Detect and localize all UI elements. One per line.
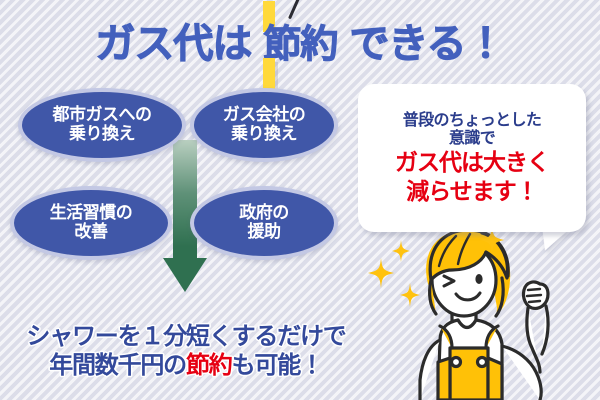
page-title: ガス代は 節約 できる！ [0,14,600,74]
balloon-line-3: ガス代は大きく [395,151,549,177]
highlight-tag: 節約 [263,6,337,82]
balloon-line-1: 普段のちょっとした [403,111,542,130]
option-bubble-gas-company-switch[interactable]: ガス会社の 乗り換え [190,88,338,162]
headline-prefix: ガス代は [95,24,251,64]
infographic-canvas: ガス代は 節約 できる！ 都市ガスへの 乗り換え ガス会社の 乗り換え 生活習慣… [0,0,600,400]
option-label: ガス会社の 乗り換え [219,106,310,144]
headline-suffix: できる！ [349,24,504,64]
caption-line-2: 年間数千円の節約も可能！ [0,351,372,380]
caption-line-1: シャワーを１分短くするだけで [0,322,372,351]
sparkle-icon [400,283,420,307]
highlight-banner: 節約 [263,1,337,89]
option-label: 生活習慣の 改善 [46,204,137,242]
option-label: 政府の 援助 [235,204,293,242]
speech-balloon: 普段のちょっとした 意識で ガス代は大きく 減らせます！ [358,84,586,232]
option-bubble-lifestyle-improvement[interactable]: 生活習慣の 改善 [10,186,172,260]
pin-icon [288,0,303,19]
sparkle-icon [368,258,394,288]
balloon-line-2: 意識で [449,129,495,148]
option-bubble-city-gas-switch[interactable]: 都市ガスへの 乗り換え [18,88,186,162]
balloon-line-4: 減らせます！ [406,180,538,206]
bottom-caption: シャワーを１分短くするだけで 年間数千円の節約も可能！ [0,322,372,380]
option-label: 都市ガスへの 乗り換え [49,106,156,144]
option-bubble-government-support[interactable]: 政府の 援助 [190,186,338,260]
caption-line-2-highlight: 節約 [186,351,232,379]
caption-line-2-part2: も可能！ [232,351,323,379]
highlight-text: 節約 [263,25,337,63]
sparkle-icon [392,240,410,262]
caption-line-2-part1: 年間数千円の [49,351,186,379]
